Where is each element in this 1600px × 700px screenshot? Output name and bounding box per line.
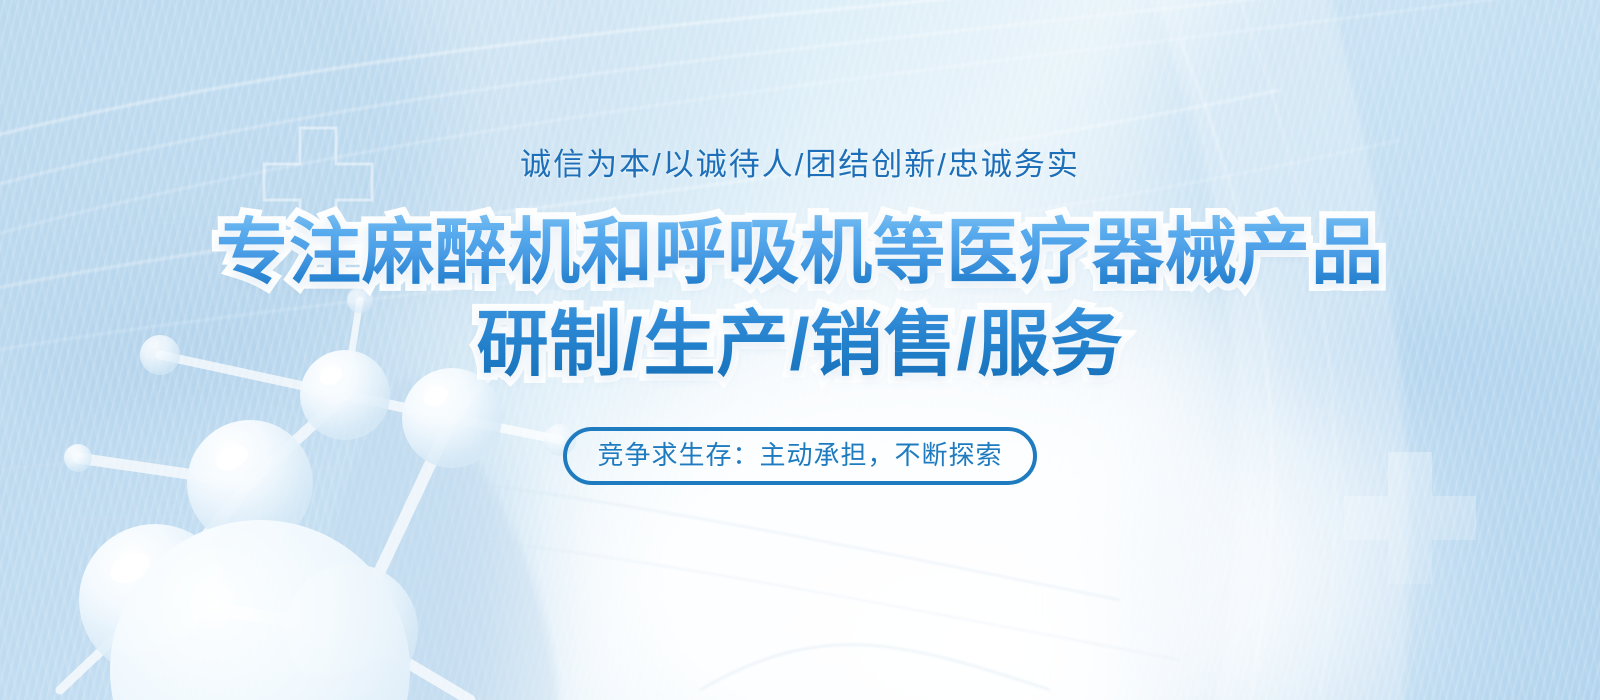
slogan-badge[interactable]: 竞争求生存：主动承担，不断探索 [563, 427, 1036, 486]
banner-headline: 专注麻醉机和呼吸机等医疗器械产品 专注麻醉机和呼吸机等医疗器械产品 研制/生产/… [216, 208, 1384, 391]
promotional-banner: 诚信为本/以诚待人/团结创新/忠诚务实 专注麻醉机和呼吸机等医疗器械产品 专注麻… [0, 0, 1600, 700]
headline-line-2-text: 研制/生产/销售/服务 [476, 305, 1123, 385]
banner-content: 诚信为本/以诚待人/团结创新/忠诚务实 专注麻醉机和呼吸机等医疗器械产品 专注麻… [0, 0, 1600, 700]
headline-line-1: 专注麻醉机和呼吸机等医疗器械产品 专注麻醉机和呼吸机等医疗器械产品 [216, 208, 1384, 299]
slogan-badge-wrapper: 竞争求生存：主动承担，不断探索 [563, 427, 1036, 486]
banner-subtitle: 诚信为本/以诚待人/团结创新/忠诚务实 [520, 148, 1080, 182]
headline-line-2: 研制/生产/销售/服务 研制/生产/销售/服务 [216, 300, 1384, 391]
headline-line-1-text: 专注麻醉机和呼吸机等医疗器械产品 [216, 213, 1384, 293]
